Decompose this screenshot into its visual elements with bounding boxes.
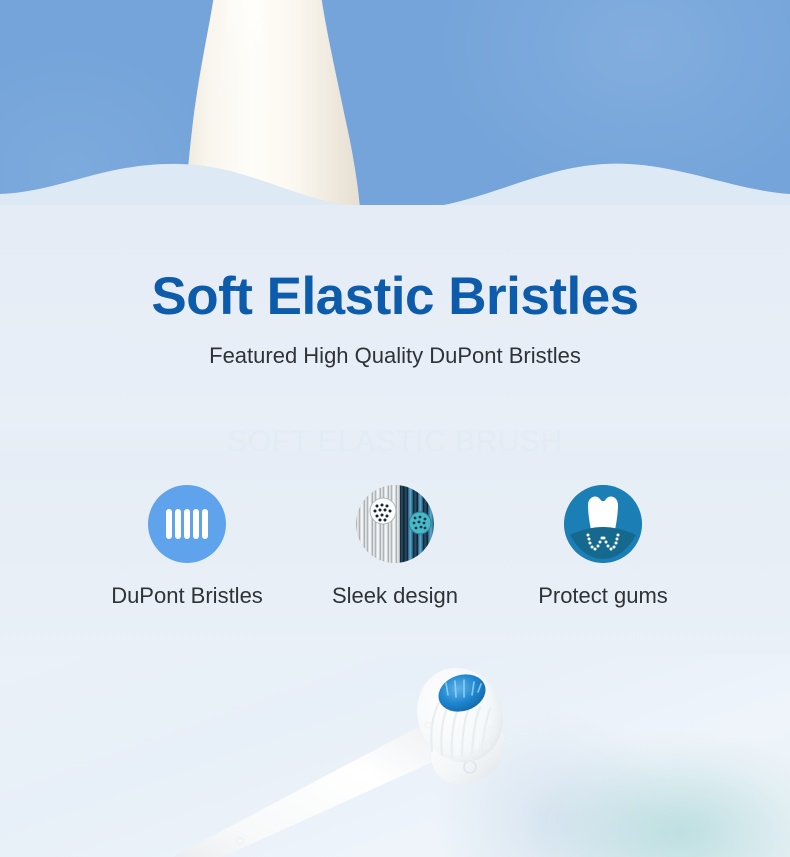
filament-bundle-icon [356,485,434,563]
page-title: Soft Elastic Bristles [0,270,790,323]
hero-top-band [0,0,790,215]
product-banner: Soft Elastic Bristles Featured High Qual… [0,0,790,857]
bristle-bar [184,509,190,539]
feature-label: Sleek design [332,585,458,607]
feature-list: DuPont Bristles [0,485,790,607]
brush-head-photo [0,655,790,857]
feature-item-sleek-design[interactable]: Sleek design [291,485,499,607]
bristle-bar [175,509,181,539]
bristle-bar [166,509,172,539]
bristle-bars-icon [148,485,226,563]
feature-item-protect-gums[interactable]: Protect gums [499,485,707,607]
content-section: Soft Elastic Bristles Featured High Qual… [0,205,790,660]
electric-toothbrush-head-image [0,655,790,857]
bristle-bar [202,509,208,539]
feature-item-dupont-bristles[interactable]: DuPont Bristles [83,485,291,607]
feature-label: Protect gums [538,585,668,607]
tooth-gums-icon [564,485,642,563]
watermark-text: SOFT ELASTIC BRUSH [0,427,790,457]
bristle-bar [193,509,199,539]
page-subtitle: Featured High Quality DuPont Bristles [0,345,790,367]
feature-label: DuPont Bristles [111,585,263,607]
